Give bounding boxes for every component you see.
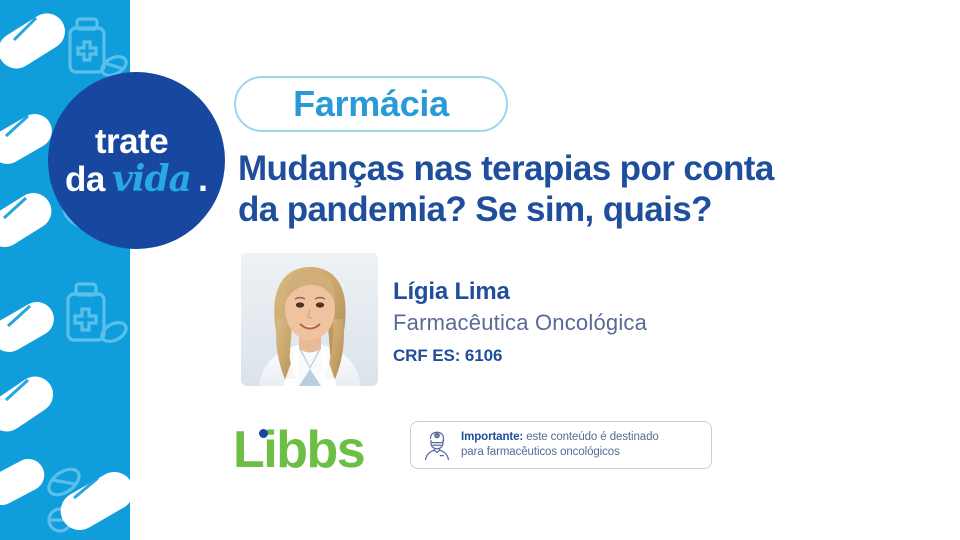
capsule-icon [0,186,58,254]
presenter-info: Lígia Lima Farmacêutica Oncológica CRF E… [393,278,753,366]
headline-line-1: Mudanças nas terapias por conta [238,149,774,188]
doctor-icon [421,429,453,461]
libbs-logo: Libbs [233,424,364,472]
brand-line-da-vida: da vida . [65,161,208,197]
presenter-photo [241,253,378,386]
presenter-role: Farmacêutica Oncológica [393,309,753,338]
brand-dot: . [198,161,208,197]
brand-line-trate: trate [95,124,168,159]
libbs-logo-text: Libbs [233,424,364,476]
category-pill: Farmácia [234,76,508,132]
important-notice-box: Importante: este conteúdo é destinadopar… [410,421,712,469]
brand-word-da: da [65,162,105,197]
notice-text: Importante: este conteúdo é destinadopar… [461,430,659,460]
medicine-bottle-icon [68,284,129,345]
notice-line-2: para farmacêuticos oncológicos [461,446,620,458]
brand-badge: trate da vida . [48,72,225,249]
capsule-icon [0,453,50,510]
category-label: Farmácia [293,83,449,125]
libbs-logo-dot [259,429,268,438]
slide-canvas: trate da vida . Farmácia Mudanças nas te… [0,0,960,540]
brand-word-vida: vida [112,161,191,197]
notice-label: Importante: [461,431,523,443]
presenter-registration: CRF ES: 6106 [393,346,753,366]
capsule-icon [0,370,60,439]
presenter-name: Lígia Lima [393,278,753,306]
capsule-icon [0,7,72,76]
notice-line-1: este conteúdo é destinado [523,431,659,443]
headline-line-2: da pandemia? Se sim, quais? [238,189,858,230]
headline: Mudanças nas terapias por conta da pande… [238,148,858,231]
capsule-icon [54,465,130,537]
pill-bottle-icon [70,19,129,79]
